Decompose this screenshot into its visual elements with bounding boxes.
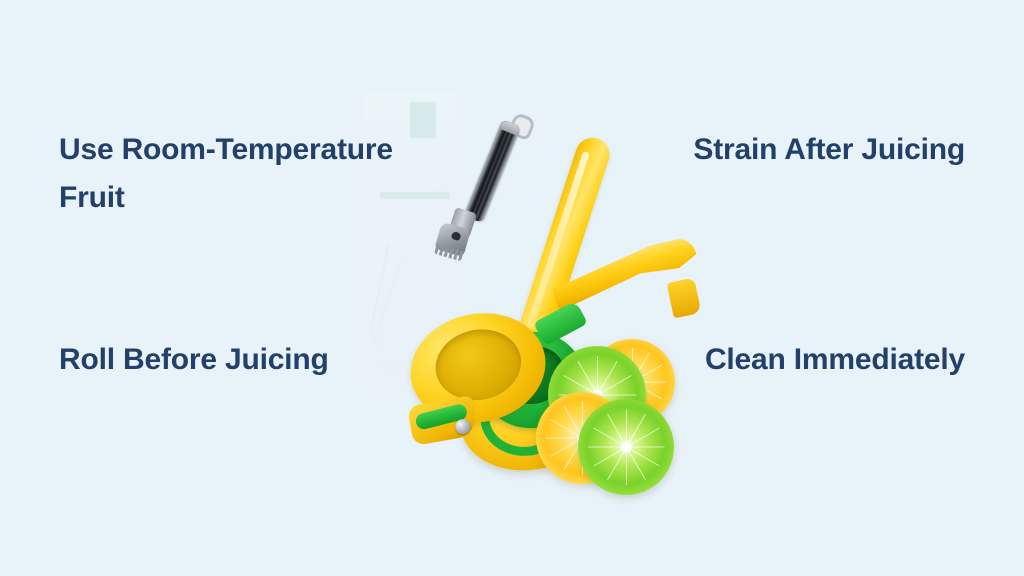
citrus-fruit-cluster bbox=[396, 96, 706, 486]
infographic-canvas: Use Room-Temperature Fruit Strain After … bbox=[0, 0, 1024, 576]
heading-roll-before-juicing: Roll Before Juicing bbox=[59, 336, 389, 384]
citrus-squeezer-product-image bbox=[396, 96, 706, 486]
lime-core bbox=[621, 442, 632, 453]
lime-half-front bbox=[578, 399, 674, 495]
